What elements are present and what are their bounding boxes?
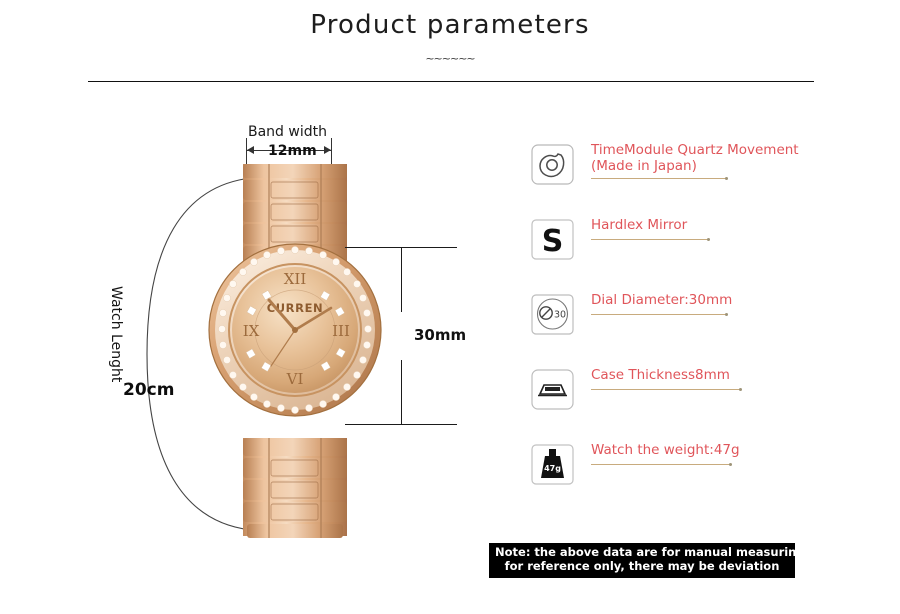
feature-label-dial-diameter: Dial Diameter:30mm bbox=[591, 292, 861, 308]
feature-underline-weight bbox=[591, 464, 731, 465]
feature-item-dial-diameter: 30 Dial Diameter:30mm bbox=[531, 292, 871, 367]
feature-label-movement: TimeModule Quartz Movement (Made in Japa… bbox=[591, 142, 861, 174]
note-line-2: for reference only, there may be deviati… bbox=[495, 560, 789, 574]
feature-label-weight: Watch the weight:47g bbox=[591, 442, 861, 458]
band-width-arrow-right-icon bbox=[324, 146, 331, 154]
note-banner: Note: the above data are for manual meas… bbox=[489, 543, 795, 578]
feature-list: TimeModule Quartz Movement (Made in Japa… bbox=[531, 142, 871, 517]
title-ornament: ~~~~~~ bbox=[0, 52, 900, 65]
feature-item-movement: TimeModule Quartz Movement (Made in Japa… bbox=[531, 142, 871, 217]
svg-text:IX: IX bbox=[243, 322, 260, 340]
feature-underline-movement bbox=[591, 178, 727, 179]
band-width-value: 12mm bbox=[268, 143, 317, 159]
dial-diameter-icon: 30 bbox=[531, 294, 574, 335]
dial-diameter-icon-value: 30 bbox=[554, 310, 566, 321]
feature-underline-hardlex bbox=[591, 239, 709, 240]
band-width-arrow-left-icon bbox=[247, 146, 254, 154]
header-divider bbox=[88, 81, 814, 82]
watch-length-value: 20cm bbox=[123, 380, 174, 400]
band-width-label: Band width bbox=[248, 124, 327, 140]
feature-underline-dial-diameter bbox=[591, 314, 727, 315]
feature-item-case-thickness: Case Thickness8mm bbox=[531, 367, 871, 442]
dim-30mm-gap bbox=[397, 312, 406, 360]
feature-item-hardlex: S Hardlex Mirror bbox=[531, 217, 871, 292]
weight-icon-value: 47g bbox=[544, 464, 561, 473]
svg-text:S: S bbox=[542, 224, 564, 259]
svg-text:III: III bbox=[332, 322, 350, 340]
svg-text:VI: VI bbox=[286, 370, 304, 388]
svg-text:XII: XII bbox=[284, 270, 307, 288]
note-line-1: Note: the above data are for manual meas… bbox=[495, 546, 789, 560]
feature-label-case-thickness: Case Thickness8mm bbox=[591, 367, 861, 383]
watch-length-label: Watch Lenght bbox=[108, 286, 124, 382]
case-thickness-icon bbox=[531, 369, 574, 410]
product-parameters-page: Product parameters ~~~~~~ Band width 12m… bbox=[0, 0, 900, 614]
bracelet-lower bbox=[243, 438, 347, 538]
weight-icon: 47g bbox=[531, 444, 574, 485]
dim-30mm-value: 30mm bbox=[414, 326, 466, 344]
page-title: Product parameters bbox=[0, 10, 900, 40]
feature-item-weight: 47g Watch the weight:47g bbox=[531, 442, 871, 517]
watch-illustration: XII III VI IX CURREN bbox=[195, 160, 395, 540]
movement-icon bbox=[531, 144, 574, 185]
feature-label-hardlex: Hardlex Mirror bbox=[591, 217, 861, 233]
feature-underline-case-thickness bbox=[591, 389, 741, 390]
hardlex-s-icon: S bbox=[531, 219, 574, 260]
